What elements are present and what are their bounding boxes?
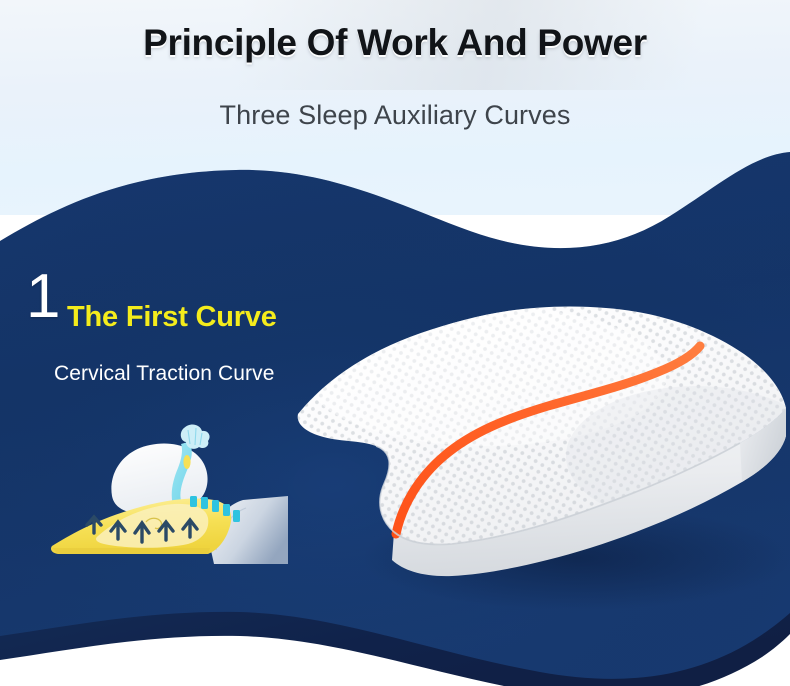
poster-canvas: Principle Of Work And Power Three Sleep …: [0, 0, 790, 686]
curve-title: The First Curve: [67, 301, 277, 334]
curve-subtitle: Cervical Traction Curve: [54, 362, 275, 386]
white-bottom-wave: [0, 634, 790, 686]
memory-foam-pillow-image: [276, 296, 790, 626]
step-number: 1: [26, 266, 60, 328]
page-subtitle: Three Sleep Auxiliary Curves: [0, 100, 790, 131]
page-title: Principle Of Work And Power: [0, 22, 790, 64]
cervical-traction-diagram-icon: [38, 418, 288, 578]
